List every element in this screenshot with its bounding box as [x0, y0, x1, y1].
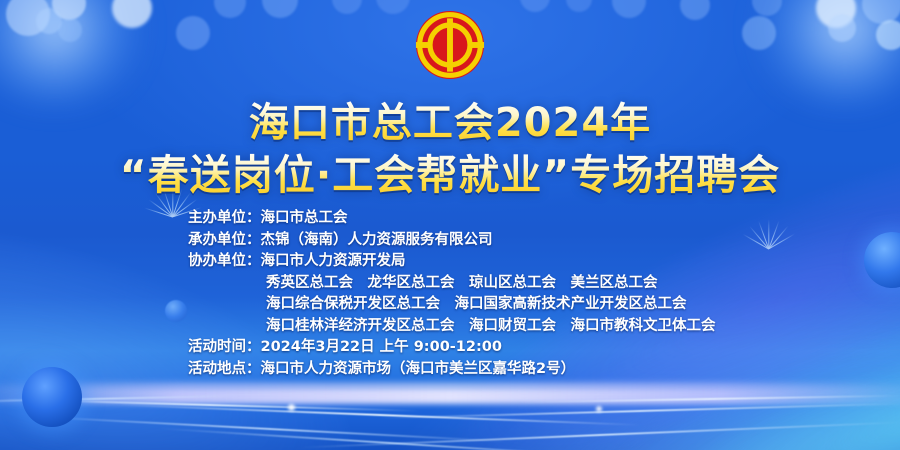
info-value: 海口市总工会 [261, 208, 348, 230]
bokeh-circle [862, 0, 900, 24]
light-streak [0, 395, 240, 403]
info-label: 主办单位： [188, 208, 261, 230]
bokeh-circle [376, 0, 410, 14]
bokeh-circle [112, 0, 152, 28]
light-streak [380, 403, 900, 420]
info-value: 海口综合保税开发区总工会 海口国家高新技术产业开发区总工会 [266, 294, 687, 316]
bokeh-circle [52, 0, 86, 20]
light-spark [596, 406, 602, 412]
info-row: 协办单位： 海口市人力资源开发局 [188, 251, 716, 273]
info-label: 协办单位： [188, 251, 261, 273]
acftu-union-emblem-icon [413, 8, 487, 82]
bokeh-circle [612, 0, 646, 18]
corner-glow-right [750, 0, 900, 104]
horizon-glow-band [0, 382, 900, 390]
light-spark [288, 404, 295, 411]
bokeh-circle [214, 0, 246, 18]
info-row-event-time: 活动时间： 2024年3月22日 上午 9:00-12:00 [188, 337, 716, 359]
bokeh-circle [332, 0, 362, 14]
bokeh-circle [816, 0, 856, 28]
firework-burst-left [172, 216, 174, 218]
horizon-glow-band [0, 388, 900, 404]
bokeh-circle [262, 0, 298, 18]
info-value: 杰锦（海南）人力资源服务有限公司 [261, 230, 493, 252]
bokeh-circle [566, 0, 592, 12]
poster-title-line-1: 海口市总工会2024年 [0, 100, 900, 147]
recruitment-poster: 海口市总工会2024年 “春送岗位·工会帮就业”专场招聘会 主办单位： 海口市总… [0, 0, 900, 450]
bokeh-circle [6, 0, 50, 36]
bokeh-circle [176, 16, 210, 50]
info-row-event-location: 活动地点： 海口市人力资源市场（海口市美兰区嘉华路2号） [188, 359, 716, 381]
corner-glow-left [0, 0, 150, 104]
bokeh-circle [36, 8, 62, 34]
decorative-sphere-left [22, 367, 82, 427]
poster-title-line-2: “春送岗位·工会帮就业”专场招聘会 [0, 151, 900, 199]
bokeh-circle [876, 20, 900, 50]
bokeh-circle [828, 14, 856, 42]
light-streak [30, 415, 509, 442]
light-streak [520, 395, 900, 404]
info-label: 承办单位： [188, 230, 261, 252]
light-streak [120, 404, 640, 426]
info-row: 主办单位： 海口市总工会 [188, 208, 716, 230]
bokeh-circle [680, 0, 710, 20]
info-value: 海口市人力资源市场（海口市美兰区嘉华路2号） [261, 359, 576, 381]
light-streak [0, 398, 420, 412]
info-value: 2024年3月22日 上午 9:00-12:00 [261, 337, 502, 359]
info-value: 海口市人力资源开发局 [261, 251, 406, 273]
poster-title-block: 海口市总工会2024年 “春送岗位·工会帮就业”专场招聘会 [0, 100, 900, 200]
info-row: 海口综合保税开发区总工会 海口国家高新技术产业开发区总工会 [188, 294, 716, 316]
bokeh-circle [742, 16, 776, 50]
info-label: 活动时间： [188, 337, 261, 359]
light-streak [300, 421, 900, 448]
poster-info-block: 主办单位： 海口市总工会 承办单位： 杰锦（海南）人力资源服务有限公司 协办单位… [188, 208, 716, 380]
info-label: 活动地点： [188, 359, 261, 381]
info-value: 海口桂林洋经济开发区总工会 海口财贸工会 海口市教科文卫体工会 [266, 316, 716, 338]
info-row: 海口桂林洋经济开发区总工会 海口财贸工会 海口市教科文卫体工会 [188, 316, 716, 338]
info-row: 秀英区总工会 龙华区总工会 琼山区总工会 美兰区总工会 [188, 273, 716, 295]
info-row: 承办单位： 杰锦（海南）人力资源服务有限公司 [188, 230, 716, 252]
bokeh-circle [752, 0, 782, 16]
info-value: 秀英区总工会 龙华区总工会 琼山区总工会 美兰区总工会 [266, 273, 658, 295]
light-streak [160, 428, 619, 450]
decorative-sphere-right [864, 232, 900, 288]
decorative-sphere-small [165, 300, 187, 322]
firework-burst-right [768, 248, 770, 250]
bokeh-circle [520, 0, 550, 12]
bokeh-circle [58, 18, 82, 42]
